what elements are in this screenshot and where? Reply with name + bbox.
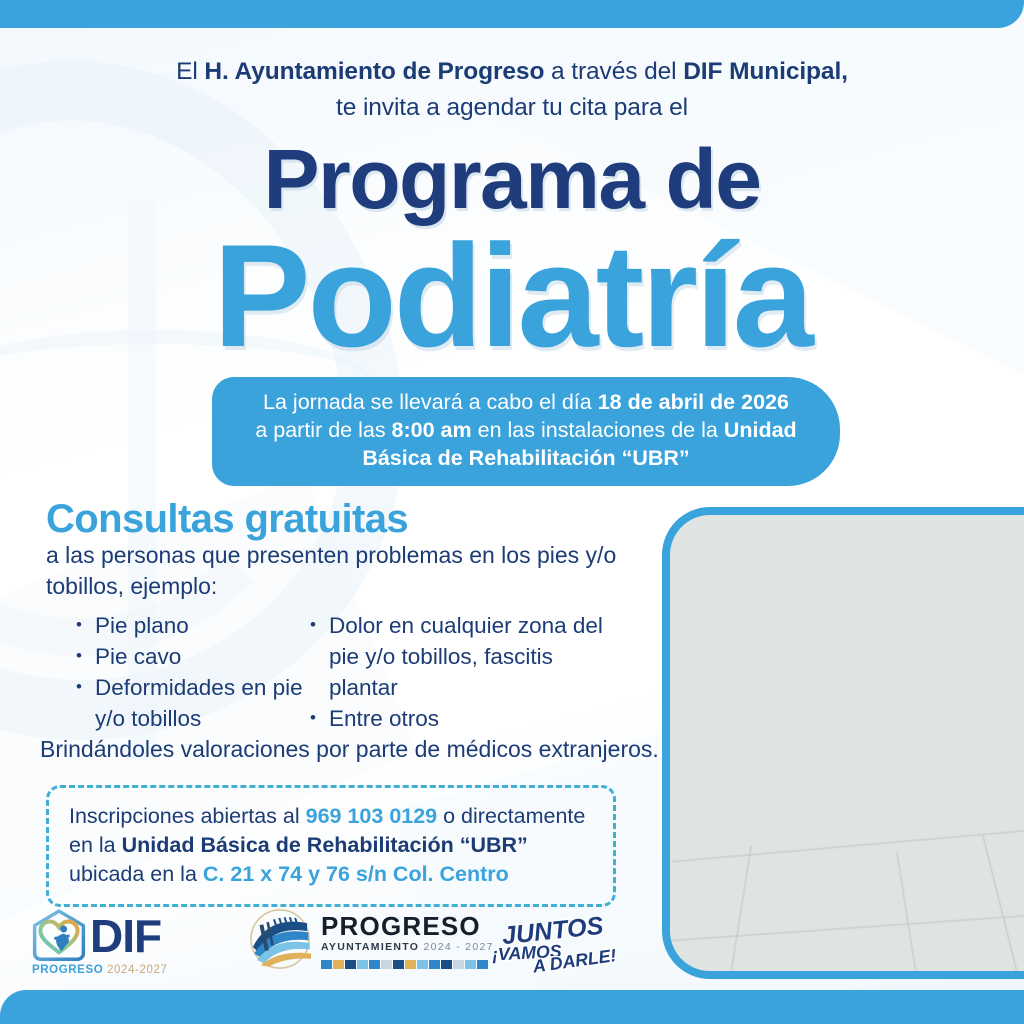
dif-logo-city: PROGRESO: [32, 964, 103, 976]
header-bold-ayuntamiento: H. Ayuntamiento de Progreso: [204, 58, 544, 85]
poster-canvas: El H. Ayuntamiento de Progreso a través …: [0, 0, 1024, 1024]
banner-place-line2: Básica de Rehabilitación “UBR”: [362, 446, 689, 470]
floor-tile-line: [896, 852, 918, 979]
dif-logo-wordmark: DIF: [90, 913, 161, 959]
inscriptions-address: C. 21 x 74 y 76 s/n Col. Centro: [203, 862, 509, 886]
inscriptions-ubr: Unidad Básica de Rehabilitación “UBR”: [122, 833, 528, 857]
podiatry-photo: [670, 515, 1024, 971]
list-item: Entre otros: [308, 703, 608, 734]
consultas-closing-text: Brindándoles valoraciones por parte de m…: [40, 734, 660, 764]
inscriptions-text-1: Inscripciones abiertas al: [69, 804, 306, 828]
banner-text-intro: La jornada se llevará a cabo el día: [263, 390, 598, 414]
podiatry-photo-frame: [662, 507, 1024, 979]
progreso-logo-years: 2024 - 2027: [423, 941, 493, 953]
inscriptions-box: Inscripciones abiertas al 969 103 0129 o…: [46, 785, 616, 907]
event-details-banner: La jornada se llevará a cabo el día 18 d…: [212, 377, 840, 486]
dif-house-heart-icon: [30, 908, 88, 964]
floor-tile-line: [730, 846, 752, 975]
list-item: Pie plano: [74, 610, 309, 641]
banner-date: 18 de abril de 2026: [598, 390, 789, 414]
juntos-vamos-a-darle-logo: JUNTOS ¡VAMOS A DARLE!: [490, 912, 630, 974]
dif-logo-years: 2024-2027: [107, 964, 167, 976]
consultas-subtext: a las personas que presenten problemas e…: [46, 540, 626, 602]
banner-text-instalaciones: en las instalaciones de la: [472, 418, 724, 442]
banner-place-line1: Unidad: [724, 418, 797, 442]
floor-tile-line: [671, 829, 1024, 863]
page-title-line1: Programa de: [0, 134, 1024, 224]
list-item: Dolor en cualquier zona del pie y/o tobi…: [308, 610, 608, 703]
header-bold-dif: DIF Municipal,: [683, 58, 848, 85]
invitation-header-line1: El H. Ayuntamiento de Progreso a través …: [0, 55, 1024, 88]
consultas-heading: Consultas gratuitas: [46, 496, 408, 542]
progreso-color-strip: [321, 956, 493, 965]
banner-text-apartir: a partir de las: [255, 418, 391, 442]
invitation-header: El H. Ayuntamiento de Progreso a través …: [0, 55, 1024, 124]
progreso-logo-sublabel: AYUNTAMIENTO: [321, 941, 419, 953]
header-text-atraves: a través del: [544, 58, 683, 85]
conditions-list-right: Dolor en cualquier zona del pie y/o tobi…: [308, 610, 608, 734]
progreso-logo-wordmark: PROGRESO: [321, 911, 481, 941]
dif-logo: DIF PROGRESO 2024-2027: [30, 908, 167, 976]
floor-tile-line: [982, 835, 1020, 979]
inscriptions-text-3: ubicada en la: [69, 862, 203, 886]
conditions-list-left: Pie plano Pie cavo Deformidades en pie y…: [74, 610, 309, 734]
banner-time: 8:00 am: [392, 418, 472, 442]
logo-row: DIF PROGRESO 2024-2027: [0, 902, 660, 984]
page-title-line2: Podiatría: [0, 218, 1024, 373]
progreso-logo: PROGRESO AYUNTAMIENTO 2024 - 2027: [243, 906, 494, 972]
dif-logo-subline: PROGRESO 2024-2027: [32, 964, 167, 976]
list-item: Pie cavo: [74, 641, 309, 672]
list-item: Deformidades en pie y/o tobillos: [74, 672, 309, 734]
bottom-blue-bar: [0, 990, 1024, 1024]
floor-tile-line: [670, 914, 1024, 941]
progreso-pier-wave-icon: [243, 906, 317, 972]
header-text-el: El: [176, 58, 204, 85]
inscriptions-phone[interactable]: 969 103 0129: [306, 804, 438, 828]
top-blue-bar: [0, 0, 1024, 28]
invitation-header-line2: te invita a agendar tu cita para el: [0, 91, 1024, 124]
